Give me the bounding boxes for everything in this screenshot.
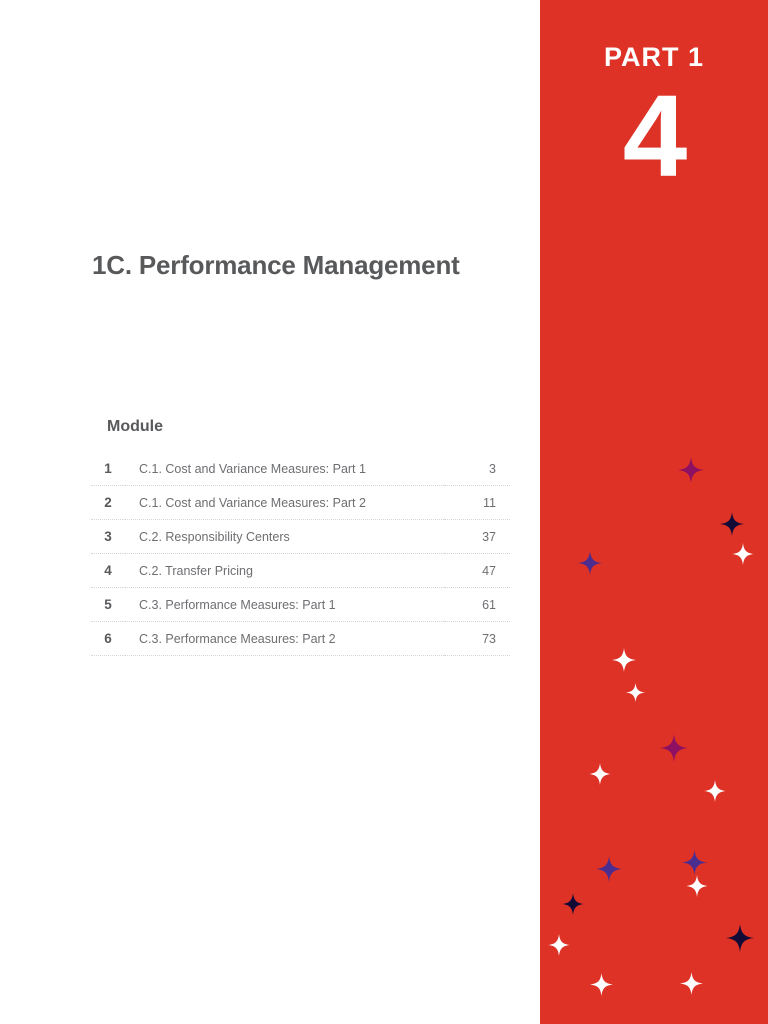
part-label: PART 1	[540, 42, 768, 73]
module-page-number: 3	[444, 452, 510, 486]
module-number: 1	[91, 452, 125, 486]
sparkle-star-icon	[680, 972, 703, 995]
module-number: 5	[91, 588, 125, 622]
module-page-number: 11	[444, 486, 510, 520]
page-title: 1C. Performance Management	[92, 250, 460, 281]
module-page-number: 61	[444, 588, 510, 622]
sidebar-red-panel: PART 1 4	[540, 0, 768, 1024]
part-number: 4	[540, 78, 768, 194]
sparkle-star-icon	[686, 875, 708, 897]
module-title: C.1. Cost and Variance Measures: Part 2	[125, 486, 444, 520]
page-root: 1C. Performance Management Module 1C.1. …	[0, 0, 768, 1024]
sparkle-star-icon	[578, 551, 602, 575]
module-page-number: 73	[444, 622, 510, 656]
sparkle-star-icon	[732, 543, 754, 565]
sparkle-star-icon	[726, 924, 754, 952]
module-section: Module 1C.1. Cost and Variance Measures:…	[91, 418, 510, 656]
sparkle-star-icon	[626, 683, 645, 702]
sparkle-star-icon	[612, 648, 636, 672]
sparkle-star-icon	[596, 856, 622, 882]
sparkle-star-icon	[682, 850, 707, 875]
table-row[interactable]: 2C.1. Cost and Variance Measures: Part 2…	[91, 486, 510, 520]
table-row[interactable]: 6C.3. Performance Measures: Part 273	[91, 622, 510, 656]
module-table: 1C.1. Cost and Variance Measures: Part 1…	[91, 452, 510, 656]
module-page-number: 47	[444, 554, 510, 588]
module-number: 6	[91, 622, 125, 656]
sparkle-star-icon	[589, 763, 611, 785]
content-area: 1C. Performance Management Module 1C.1. …	[0, 0, 540, 1024]
table-row[interactable]: 3C.2. Responsibility Centers37	[91, 520, 510, 554]
module-number: 3	[91, 520, 125, 554]
module-heading: Module	[91, 418, 510, 436]
sparkle-star-icon	[704, 780, 726, 802]
module-title: C.2. Transfer Pricing	[125, 554, 444, 588]
sparkle-star-icon	[660, 734, 688, 762]
sparkle-star-icon	[548, 934, 570, 956]
module-title: C.3. Performance Measures: Part 1	[125, 588, 444, 622]
module-title: C.3. Performance Measures: Part 2	[125, 622, 444, 656]
module-title: C.2. Responsibility Centers	[125, 520, 444, 554]
module-number: 2	[91, 486, 125, 520]
module-title: C.1. Cost and Variance Measures: Part 1	[125, 452, 444, 486]
sparkle-star-icon	[562, 893, 584, 915]
module-page-number: 37	[444, 520, 510, 554]
sparkle-star-icon	[678, 457, 704, 483]
sparkle-star-icon	[590, 973, 613, 996]
module-number: 4	[91, 554, 125, 588]
table-row[interactable]: 5C.3. Performance Measures: Part 161	[91, 588, 510, 622]
table-row[interactable]: 4C.2. Transfer Pricing47	[91, 554, 510, 588]
table-row[interactable]: 1C.1. Cost and Variance Measures: Part 1…	[91, 452, 510, 486]
sparkle-star-icon	[720, 512, 744, 536]
